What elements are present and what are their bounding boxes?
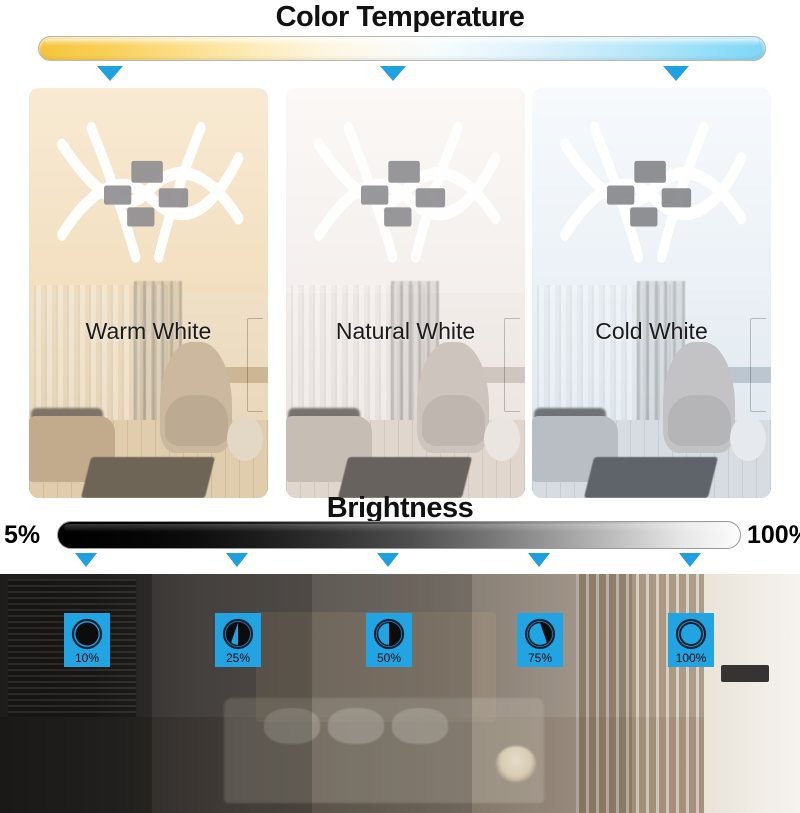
brightness-marker-100 [679,553,701,567]
room-scene-natural [286,88,525,498]
color-temperature-marker-cold [663,66,689,81]
brightness-badge-25[interactable]: 25% [215,613,261,667]
color-temperature-marker-warm [97,66,123,81]
room-scene-warm [29,88,268,498]
brightness-badge-50[interactable]: 50% [366,613,412,667]
ottoman [730,416,766,461]
color-temperature-panel-natural-white: Natural White [286,88,525,498]
color-temperature-panel-warm-white: Warm White [29,88,268,498]
armchair [417,342,489,453]
panel-label-natural-white: Natural White [286,318,525,345]
dim-band-25 [152,574,312,813]
armchair [160,342,232,453]
dim-band-50 [312,574,472,813]
brightness-badge-label-100: 100% [668,651,714,665]
dimmer-level-icon [70,617,104,651]
panel-label-warm-white: Warm White [29,318,268,345]
brightness-max-label: 100% [747,521,800,549]
led-ceiling-light-icon [300,109,510,273]
dimmer-level-icon [372,617,406,651]
dimmer-level-icon [221,617,255,651]
led-ceiling-light-icon [43,109,253,273]
brightness-badge-label-75: 75% [517,651,563,665]
brightness-badge-100[interactable]: 100% [668,613,714,667]
brightness-badge-label-50: 50% [366,651,412,665]
panel-label-cold-white: Cold White [532,318,771,345]
room-scene-cold [532,88,771,498]
color-temperature-gradient-bar [38,36,766,61]
brightness-badge-label-25: 25% [215,651,261,665]
dim-band-75 [472,574,632,813]
dimmer-level-icon [674,617,708,651]
brightness-marker-50 [377,553,399,567]
brightness-min-label: 5% [4,521,40,549]
armchair [663,342,735,453]
brightness-gradient-bar [57,521,741,549]
brightness-marker-75 [528,553,550,567]
brightness-marker-25 [226,553,248,567]
bedroom-brightness-scene: NOTE: Do not fit for home dimmer [0,574,800,813]
dim-band-100 [632,574,800,813]
led-ceiling-light-icon [546,109,756,273]
color-temperature-marker-natural [380,66,406,81]
ottoman [227,416,263,461]
color-temperature-title: Color Temperature [0,1,800,33]
dimmer-level-icon [523,617,557,651]
brightness-badge-10[interactable]: 10% [64,613,110,667]
brightness-title: Brightness [0,492,800,524]
color-temperature-panel-cold-white: Cold White [532,88,771,498]
dim-band-10 [0,574,152,813]
brightness-badge-label-10: 10% [64,651,110,665]
brightness-marker-10 [75,553,97,567]
ottoman [484,416,520,461]
brightness-badge-75[interactable]: 75% [517,613,563,667]
